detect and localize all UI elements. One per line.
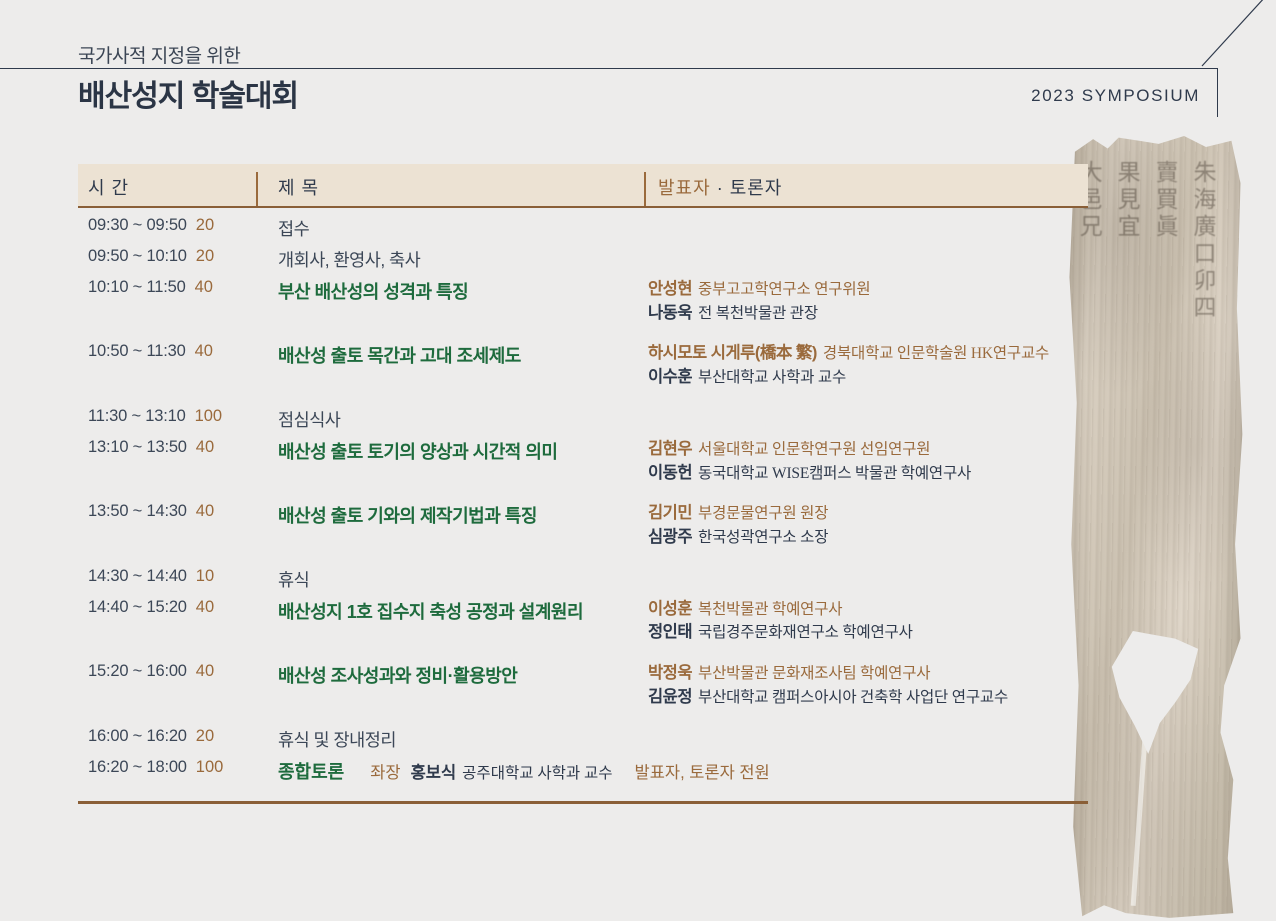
cell-title: 휴식 및 장내정리 xyxy=(256,727,644,752)
cell-title: 개회사, 환영사, 축사 xyxy=(256,247,644,272)
time-duration: 100 xyxy=(196,758,224,777)
table-row: 09:50 ~ 10:1020개회사, 환영사, 축사 xyxy=(78,247,1088,278)
table-row: 15:20 ~ 16:0040배산성 조사성과와 정비·활용방안박정욱부산박물관… xyxy=(78,662,1088,709)
table-row: 16:00 ~ 16:2020휴식 및 장내정리 xyxy=(78,727,1088,758)
cell-time: 13:10 ~ 13:5040 xyxy=(78,438,256,457)
session-title: 배산성 조사성과와 정비·활용방안 xyxy=(278,666,517,686)
session-title: 휴식 xyxy=(278,570,309,590)
presenter-name: 안성현 xyxy=(648,280,692,298)
time-duration: 10 xyxy=(196,567,214,586)
cell-people: 하시모토 시게루(橋本 繁)경북대학교 인문학술원 HK연구교수이수훈부산대학교… xyxy=(644,342,1088,389)
discussant-name: 이동헌 xyxy=(648,464,692,482)
panel-title: 종합토론 xyxy=(278,758,344,784)
presenter-line: 안성현중부고고학연구소 연구위원 xyxy=(648,278,1088,302)
time-duration: 40 xyxy=(196,662,214,681)
cell-time: 10:10 ~ 11:5040 xyxy=(78,278,256,297)
tablet-hole xyxy=(1106,631,1202,759)
time-duration: 20 xyxy=(196,247,214,266)
cell-time: 10:50 ~ 11:3040 xyxy=(78,342,256,361)
chair-affiliation: 공주대학교 사학과 교수 xyxy=(462,761,612,783)
cell-people: 이성훈복천박물관 학예연구사정인태국립경주문화재연구소 학예연구사 xyxy=(644,598,1088,645)
cell-title: 배산성지 1호 집수지 축성 공정과 설계원리 xyxy=(256,598,644,624)
panel-participants: 발표자, 토론자 전원 xyxy=(635,759,770,783)
table-row: 13:10 ~ 13:5040배산성 출토 토기의 양상과 시간적 의미김현우서… xyxy=(78,438,1088,485)
presenter-affiliation: 부경문물연구원 원장 xyxy=(698,505,828,522)
column-header-people: 발표자 · 토론자 xyxy=(658,174,782,200)
tablet-shading xyxy=(1064,136,1246,921)
table-row-panel: 16:20 ~ 18:00100종합토론좌장홍보식공주대학교 사학과 교수발표자… xyxy=(78,758,1088,789)
discussant-affiliation: 한국성곽연구소 소장 xyxy=(698,529,828,546)
discussant-line: 김윤정부산대학교 캠퍼스아시아 건축학 사업단 연구교수 xyxy=(648,686,1088,710)
presenter-line: 이성훈복천박물관 학예연구사 xyxy=(648,598,1088,622)
discussant-name: 나동욱 xyxy=(648,304,692,322)
time-range: 14:30 ~ 14:40 xyxy=(88,567,187,586)
discussant-name: 김윤정 xyxy=(648,688,692,706)
discussant-name: 정인태 xyxy=(648,623,692,641)
column-header-discussant: 토론자 xyxy=(730,178,783,198)
column-header-separator: · xyxy=(711,178,730,198)
chair-label: 좌장 xyxy=(370,759,400,783)
time-range: 09:50 ~ 10:10 xyxy=(88,247,187,266)
presenter-affiliation: 경북대학교 인문학술원 HK연구교수 xyxy=(823,345,1049,362)
cell-time: 13:50 ~ 14:3040 xyxy=(78,502,256,521)
tablet-crack xyxy=(1131,696,1151,906)
cell-time: 16:20 ~ 18:00100 xyxy=(78,758,256,777)
cell-time: 11:30 ~ 13:10100 xyxy=(78,407,256,426)
discussant-line: 정인태국립경주문화재연구소 학예연구사 xyxy=(648,621,1088,645)
presenter-affiliation: 중부고고학연구소 연구위원 xyxy=(698,281,870,298)
time-duration: 40 xyxy=(196,438,214,457)
cell-people: 박정욱부산박물관 문화재조사팀 학예연구사김윤정부산대학교 캠퍼스아시아 건축학… xyxy=(644,662,1088,709)
presenter-line: 김기민부경문물연구원 원장 xyxy=(648,502,1088,526)
time-range: 13:10 ~ 13:50 xyxy=(88,438,187,457)
discussant-affiliation: 부산대학교 캠퍼스아시아 건축학 사업단 연구교수 xyxy=(698,689,1008,706)
cell-time: 09:30 ~ 09:5020 xyxy=(78,216,256,235)
table-row: 09:30 ~ 09:5020접수 xyxy=(78,216,1088,247)
column-header-title: 제 목 xyxy=(278,174,319,200)
presenter-affiliation: 부산박물관 문화재조사팀 학예연구사 xyxy=(698,665,930,682)
cell-time: 14:30 ~ 14:4010 xyxy=(78,567,256,586)
discussant-line: 나동욱전 복천박물관 관장 xyxy=(648,302,1088,326)
presenter-name: 김기민 xyxy=(648,504,692,522)
discussant-name: 이수훈 xyxy=(648,368,692,386)
table-row: 11:30 ~ 13:10100점심식사 xyxy=(78,407,1088,438)
tablet-inscription: 朱海廣口卯四 賣買眞 果見宜 大邑兄 xyxy=(1064,136,1246,921)
cell-title: 접수 xyxy=(256,216,644,241)
panel-discussion-line: 종합토론좌장홍보식공주대학교 사학과 교수발표자, 토론자 전원 xyxy=(278,758,1088,784)
time-range: 16:00 ~ 16:20 xyxy=(88,727,187,746)
discussant-line: 이수훈부산대학교 사학과 교수 xyxy=(648,366,1088,390)
presenter-line: 김현우서울대학교 인문학연구원 선임연구원 xyxy=(648,438,1088,462)
cell-time: 09:50 ~ 10:1020 xyxy=(78,247,256,266)
corner-vertical-rule xyxy=(1217,68,1218,117)
cell-people: 김기민부경문물연구원 원장심광주한국성곽연구소 소장 xyxy=(644,502,1088,549)
time-duration: 20 xyxy=(196,727,214,746)
column-header-time: 시 간 xyxy=(88,174,129,200)
presenter-name: 김현우 xyxy=(648,440,692,458)
cell-time: 16:00 ~ 16:2020 xyxy=(78,727,256,746)
session-title: 휴식 및 장내정리 xyxy=(278,730,396,750)
time-range: 14:40 ~ 15:20 xyxy=(88,598,187,617)
table-row: 13:50 ~ 14:3040배산성 출토 기와의 제작기법과 특징김기민부경문… xyxy=(78,502,1088,549)
discussant-affiliation: 부산대학교 사학과 교수 xyxy=(698,369,846,386)
cell-title: 점심식사 xyxy=(256,407,644,432)
column-divider-2 xyxy=(644,172,646,206)
discussant-name: 심광주 xyxy=(648,528,692,546)
cell-time: 15:20 ~ 16:0040 xyxy=(78,662,256,681)
table-row: 10:50 ~ 11:3040배산성 출토 목간과 고대 조세제도하시모토 시게… xyxy=(78,342,1088,389)
time-duration: 20 xyxy=(196,216,214,235)
table-row: 10:10 ~ 11:5040부산 배산성의 성격과 특징안성현중부고고학연구소… xyxy=(78,278,1088,325)
presenter-line: 박정욱부산박물관 문화재조사팀 학예연구사 xyxy=(648,662,1088,686)
cell-people: 김현우서울대학교 인문학연구원 선임연구원이동헌동국대학교 WISE캠퍼스 박물… xyxy=(644,438,1088,485)
session-title: 배산성 출토 기와의 제작기법과 특징 xyxy=(278,506,537,526)
cell-time: 14:40 ~ 15:2040 xyxy=(78,598,256,617)
time-range: 11:30 ~ 13:10 xyxy=(88,407,186,426)
session-title: 배산성 출토 목간과 고대 조세제도 xyxy=(278,346,521,366)
schedule-body: 09:30 ~ 09:5020접수09:50 ~ 10:1020개회사, 환영사… xyxy=(78,208,1088,804)
session-title: 개회사, 환영사, 축사 xyxy=(278,250,420,270)
schedule-header-row: 시 간 제 목 발표자 · 토론자 xyxy=(78,164,1088,208)
column-header-presenter: 발표자 xyxy=(658,178,711,198)
presenter-name: 이성훈 xyxy=(648,600,692,618)
discussant-affiliation: 국립경주문화재연구소 학예연구사 xyxy=(698,624,913,641)
cell-title: 종합토론좌장홍보식공주대학교 사학과 교수발표자, 토론자 전원 xyxy=(256,758,1088,784)
time-duration: 40 xyxy=(196,502,214,521)
poster-header: 국가사적 지정을 위한 배산성지 학술대회 xyxy=(78,46,298,114)
session-title: 부산 배산성의 성격과 특징 xyxy=(278,282,468,302)
symposium-year-label: 2023 SYMPOSIUM xyxy=(1031,86,1200,106)
time-range: 10:10 ~ 11:50 xyxy=(88,278,186,297)
discussant-line: 이동헌동국대학교 WISE캠퍼스 박물관 학예연구사 xyxy=(648,462,1088,486)
page-title: 배산성지 학술대회 xyxy=(78,80,298,115)
discussant-affiliation: 동국대학교 WISE캠퍼스 박물관 학예연구사 xyxy=(698,465,971,482)
time-duration: 100 xyxy=(195,407,223,426)
presenter-name: 하시모토 시게루(橋本 繁) xyxy=(648,344,817,362)
cell-title: 배산성 조사성과와 정비·활용방안 xyxy=(256,662,644,688)
time-range: 10:50 ~ 11:30 xyxy=(88,342,186,361)
time-range: 15:20 ~ 16:00 xyxy=(88,662,187,681)
cell-title: 휴식 xyxy=(256,567,644,592)
session-title: 접수 xyxy=(278,219,309,239)
cell-title: 배산성 출토 목간과 고대 조세제도 xyxy=(256,342,644,368)
time-duration: 40 xyxy=(195,278,213,297)
discussant-affiliation: 전 복천박물관 관장 xyxy=(698,305,818,322)
discussant-line: 심광주한국성곽연구소 소장 xyxy=(648,526,1088,550)
time-range: 13:50 ~ 14:30 xyxy=(88,502,187,521)
cell-title: 배산성 출토 기와의 제작기법과 특징 xyxy=(256,502,644,528)
session-title: 배산성 출토 토기의 양상과 시간적 의미 xyxy=(278,442,557,462)
cell-people: 안성현중부고고학연구소 연구위원나동욱전 복천박물관 관장 xyxy=(644,278,1088,325)
time-range: 16:20 ~ 18:00 xyxy=(88,758,187,777)
kicker-text: 국가사적 지정을 위한 xyxy=(78,46,298,69)
presenter-name: 박정욱 xyxy=(648,664,692,682)
time-duration: 40 xyxy=(196,598,214,617)
schedule-table: 시 간 제 목 발표자 · 토론자 09:30 ~ 09:5020접수09:50… xyxy=(78,164,1088,804)
cell-title: 부산 배산성의 성격과 특징 xyxy=(256,278,644,304)
column-divider-1 xyxy=(256,172,258,206)
presenter-line: 하시모토 시게루(橋本 繁)경북대학교 인문학술원 HK연구교수 xyxy=(648,342,1088,366)
chair-name: 홍보식 xyxy=(411,759,457,783)
presenter-affiliation: 복천박물관 학예연구사 xyxy=(698,601,842,618)
tablet-board: 朱海廣口卯四 賣買眞 果見宜 大邑兄 xyxy=(1064,136,1246,921)
table-row: 14:40 ~ 15:2040배산성지 1호 집수지 축성 공정과 설계원리이성… xyxy=(78,598,1088,645)
time-duration: 40 xyxy=(195,342,213,361)
session-title: 배산성지 1호 집수지 축성 공정과 설계원리 xyxy=(278,602,583,622)
time-range: 09:30 ~ 09:50 xyxy=(88,216,187,235)
presenter-affiliation: 서울대학교 인문학연구원 선임연구원 xyxy=(698,441,930,458)
session-title: 점심식사 xyxy=(278,410,340,430)
table-row: 14:30 ~ 14:4010휴식 xyxy=(78,567,1088,598)
cell-title: 배산성 출토 토기의 양상과 시간적 의미 xyxy=(256,438,644,464)
